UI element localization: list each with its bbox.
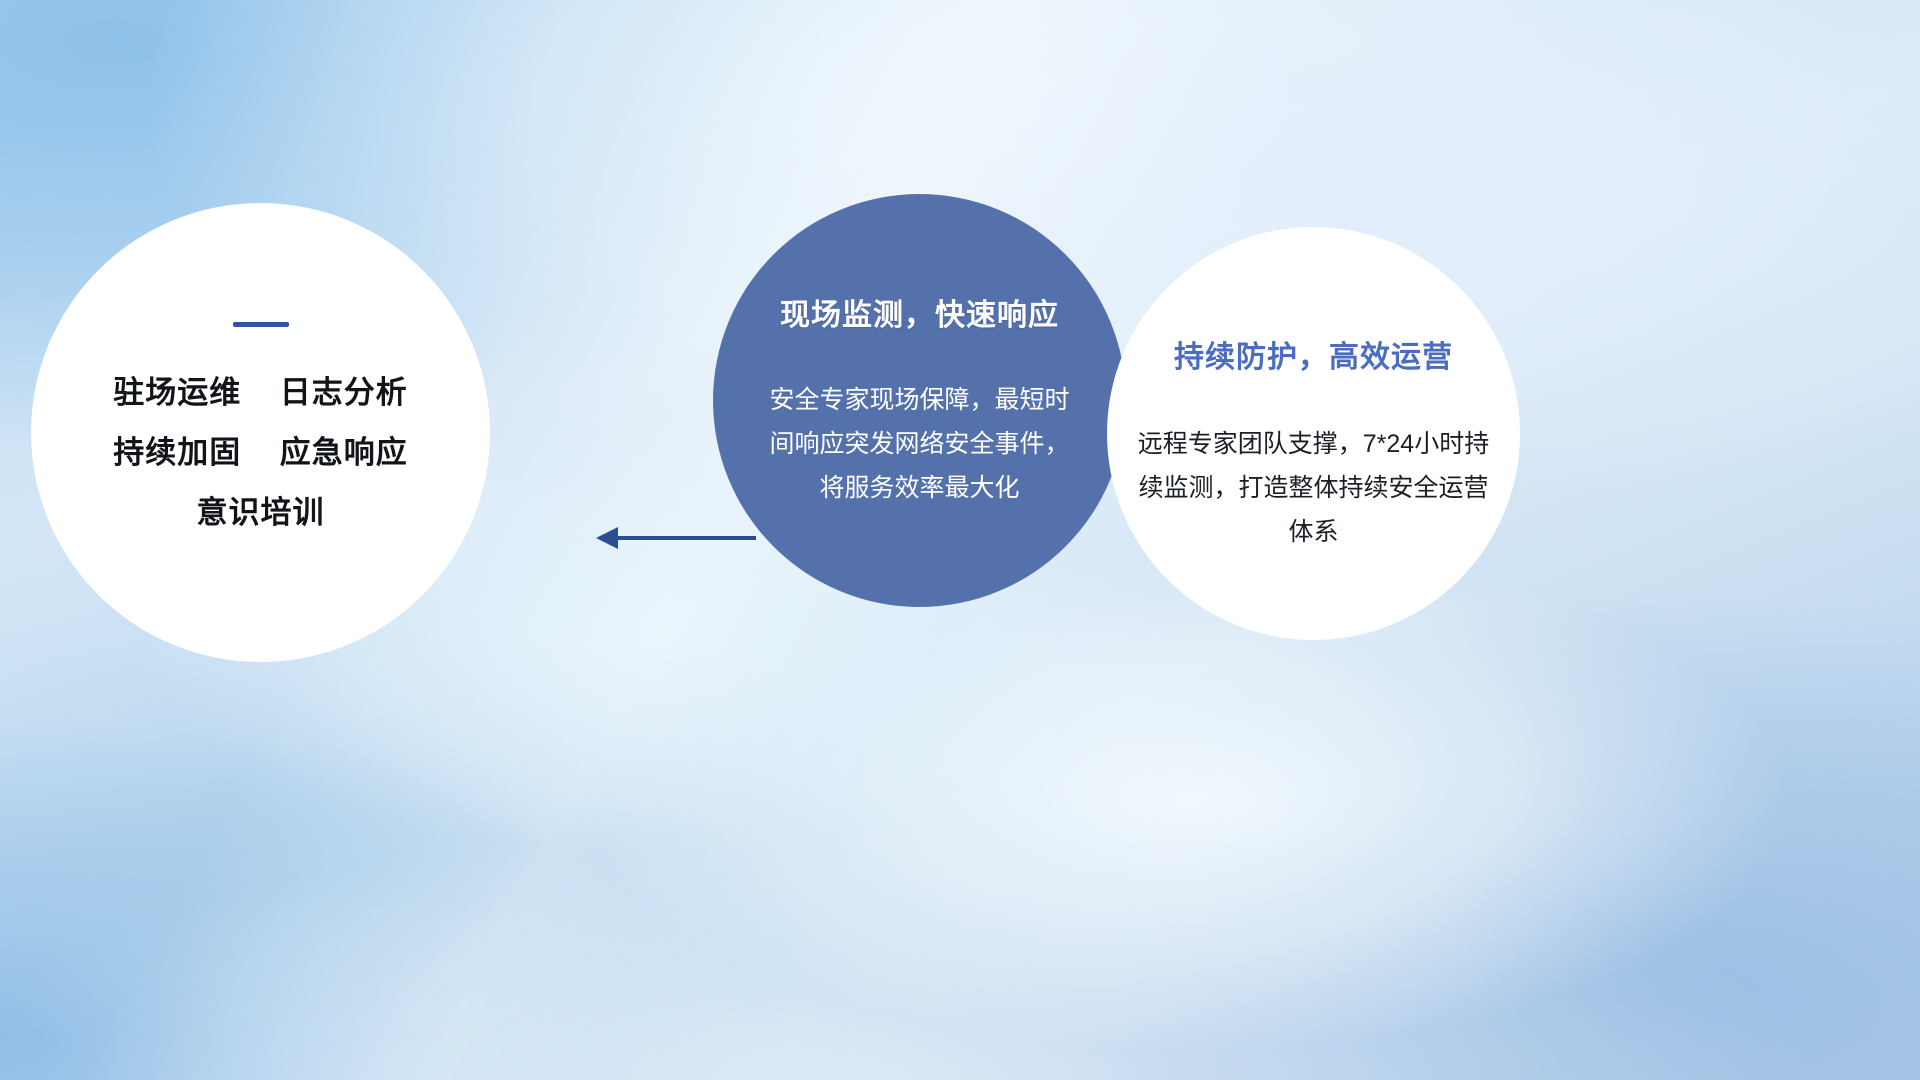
middle-circle-content: 现场监测，快速响应 安全专家现场保障，最短时间响应突发网络安全事件，将服务效率最… bbox=[713, 194, 1126, 607]
slide-canvas: 现场监测，快速响应 安全专家现场保障，最短时间响应突发网络安全事件，将服务效率最… bbox=[0, 0, 1920, 1080]
left-circle-card[interactable]: 驻场运维 日志分析 持续加固 应急响应 意识培训 bbox=[31, 203, 490, 662]
list-item: 持续加固 应急响应 bbox=[31, 423, 490, 483]
right-circle-title: 持续防护，高效运营 bbox=[1174, 332, 1453, 376]
middle-circle-title: 现场监测，快速响应 bbox=[780, 290, 1059, 334]
right-circle-card[interactable]: 持续防护，高效运营 远程专家团队支撑，7*24小时持续监测，打造整体持续安全运营… bbox=[1107, 227, 1520, 640]
list-item: 意识培训 bbox=[31, 483, 490, 543]
right-circle-body: 远程专家团队支撑，7*24小时持续监测，打造整体持续安全运营体系 bbox=[1129, 422, 1499, 554]
list-item: 驻场运维 日志分析 bbox=[31, 363, 490, 423]
middle-circle-body: 安全专家现场保障，最短时间响应突发网络安全事件，将服务效率最大化 bbox=[770, 378, 1070, 510]
right-circle-content: 持续防护，高效运营 远程专家团队支撑，7*24小时持续监测，打造整体持续安全运营… bbox=[1107, 227, 1520, 640]
left-circle-keyword-list: 驻场运维 日志分析 持续加固 应急响应 意识培训 bbox=[31, 363, 490, 543]
horizontal-dash-icon bbox=[233, 322, 289, 327]
middle-circle-card[interactable]: 现场监测，快速响应 安全专家现场保障，最短时间响应突发网络安全事件，将服务效率最… bbox=[713, 194, 1126, 607]
